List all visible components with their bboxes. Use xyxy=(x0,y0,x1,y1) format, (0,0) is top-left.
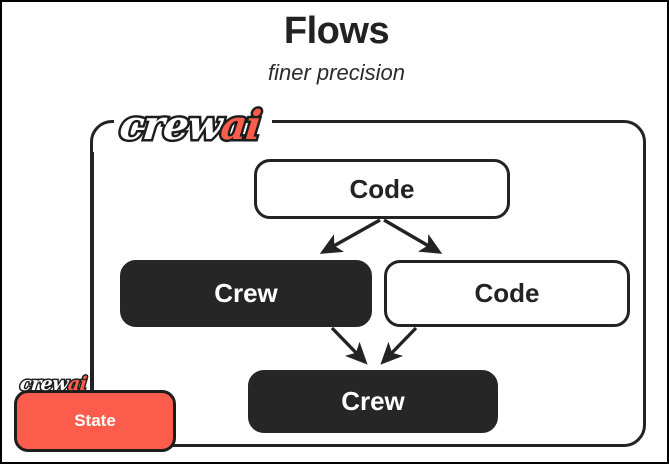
page-title: Flows xyxy=(2,12,669,52)
flows-diagram-screenshot: Flows finer precision crewai Code Crew C… xyxy=(0,0,669,464)
node-code-top[interactable]: Code xyxy=(254,159,510,219)
node-state[interactable]: State xyxy=(14,390,176,452)
node-code-top-label: Code xyxy=(350,174,415,205)
node-crew-middle[interactable]: Crew xyxy=(120,260,372,327)
node-crew-bottom[interactable]: Crew xyxy=(248,370,498,433)
crewai-logo-small: crewai xyxy=(20,373,87,395)
node-crew-bottom-label: Crew xyxy=(341,386,405,417)
crewai-logo: crewai xyxy=(120,102,260,149)
node-crew-middle-label: Crew xyxy=(214,278,278,309)
page-subtitle: finer precision xyxy=(2,60,669,86)
node-code-middle[interactable]: Code xyxy=(384,260,630,327)
node-code-middle-label: Code xyxy=(475,278,540,309)
crewai-logo-crew-text: crew xyxy=(118,102,224,149)
crewai-logo-ai-text: ai xyxy=(219,102,263,149)
state-connector-line xyxy=(91,152,94,392)
crewai-logo-small-ai-text: ai xyxy=(67,373,88,395)
node-state-label: State xyxy=(74,411,116,431)
crewai-logo-small-crew-text: crew xyxy=(19,373,69,395)
